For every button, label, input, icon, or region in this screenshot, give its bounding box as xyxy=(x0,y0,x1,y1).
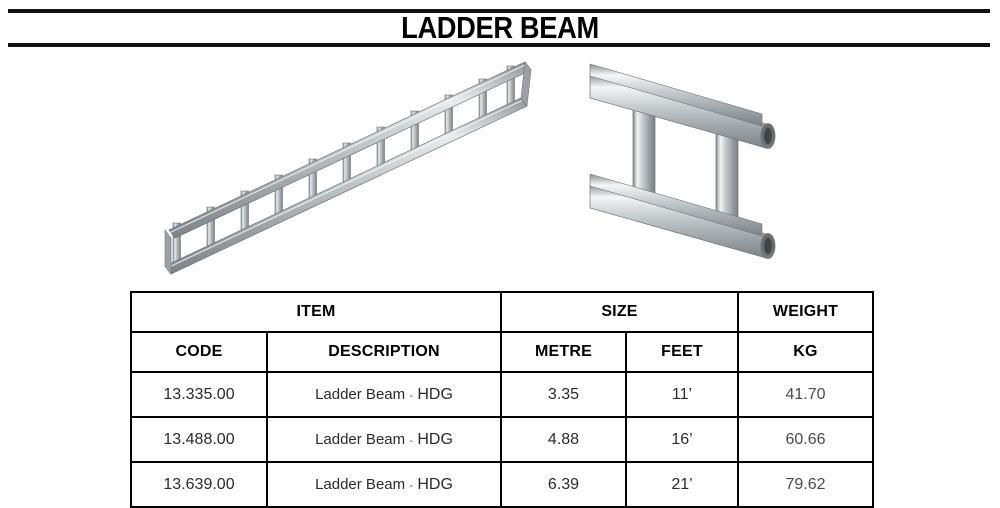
cell-metre: 4.88 xyxy=(501,417,626,462)
ladder-chord-lower xyxy=(165,98,527,274)
column-header-metre: METRE xyxy=(501,332,626,372)
illustration-area xyxy=(0,50,1000,288)
table-column-header-row: CODE DESCRIPTION METRE FEET KG xyxy=(131,332,873,372)
cell-kg: 60.66 xyxy=(738,417,873,462)
description-dash: - xyxy=(410,436,413,447)
cell-description: Ladder Beam - HDG xyxy=(267,462,501,507)
page-title: LADDER BEAM xyxy=(60,12,940,43)
column-header-description: DESCRIPTION xyxy=(267,332,501,372)
ladder-beam-detail-image xyxy=(588,56,803,282)
cell-feet: 21’ xyxy=(626,462,738,507)
title-block: LADDER BEAM xyxy=(0,0,1000,50)
description-main: Ladder Beam xyxy=(315,431,405,448)
description-finish: HDG xyxy=(417,386,453,403)
description-finish: HDG xyxy=(417,476,453,493)
description-main: Ladder Beam xyxy=(315,476,405,493)
column-header-kg: KG xyxy=(738,332,873,372)
cell-feet: 16’ xyxy=(626,417,738,462)
cell-description: Ladder Beam - HDG xyxy=(267,417,501,462)
ladder-beam-full-image xyxy=(155,54,550,282)
group-header-item: ITEM xyxy=(131,292,501,332)
group-header-weight: WEIGHT xyxy=(738,292,873,332)
column-header-feet: FEET xyxy=(626,332,738,372)
ladder-chord-upper xyxy=(169,62,531,238)
cell-kg: 41.70 xyxy=(738,372,873,417)
detail-chord-lower xyxy=(590,174,775,259)
specification-table: ITEM SIZE WEIGHT CODE DESCRIPTION METRE … xyxy=(130,291,874,508)
cell-metre: 3.35 xyxy=(501,372,626,417)
table-row: 13.639.00 Ladder Beam - HDG 6.39 21’ 79.… xyxy=(131,462,873,507)
description-dash: - xyxy=(410,481,413,492)
cell-feet: 11’ xyxy=(626,372,738,417)
cell-code: 13.639.00 xyxy=(131,462,267,507)
column-header-code: CODE xyxy=(131,332,267,372)
cell-code: 13.488.00 xyxy=(131,417,267,462)
cell-description: Ladder Beam - HDG xyxy=(267,372,501,417)
cell-metre: 6.39 xyxy=(501,462,626,507)
table-row: 13.335.00 Ladder Beam - HDG 3.35 11’ 41.… xyxy=(131,372,873,417)
cell-code: 13.335.00 xyxy=(131,372,267,417)
description-main: Ladder Beam xyxy=(315,386,405,403)
description-dash: - xyxy=(410,391,413,402)
description-finish: HDG xyxy=(417,431,453,448)
title-rule-bottom xyxy=(8,43,990,47)
cell-kg: 79.62 xyxy=(738,462,873,507)
detail-chord-upper xyxy=(590,64,775,149)
group-header-size: SIZE xyxy=(501,292,738,332)
table-group-header-row: ITEM SIZE WEIGHT xyxy=(131,292,873,332)
table-row: 13.488.00 Ladder Beam - HDG 4.88 16’ 60.… xyxy=(131,417,873,462)
